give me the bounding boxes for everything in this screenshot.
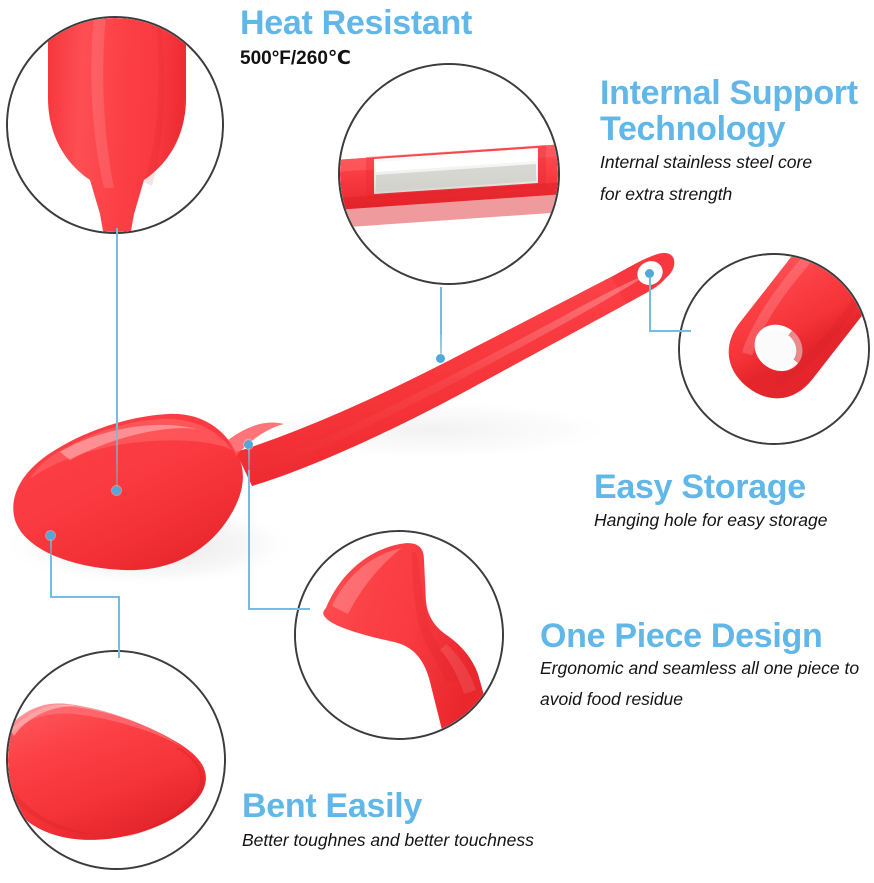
callout-heat-resistant-image <box>8 18 222 232</box>
feature-title-internal-support-line2: Technology <box>600 110 785 148</box>
leader-line-one-piece-horizontal <box>248 608 310 610</box>
leader-line-heat-resistant <box>116 228 118 428</box>
leader-line-one-piece-vertical <box>248 470 250 610</box>
feature-title-one-piece-design: One Piece Design <box>540 617 822 655</box>
leader-line-easy-storage-horizontal <box>649 330 691 332</box>
feature-subtitle-one-piece-design-line1: Ergonomic and seamless all one piece to <box>540 653 859 683</box>
callout-bent-easily <box>6 650 226 870</box>
handle-steel-core-closeup-icon <box>340 65 558 283</box>
leader-line-easy-storage-vertical <box>649 277 651 332</box>
feature-title-bent-easily: Bent Easily <box>242 787 422 825</box>
callout-heat-resistant <box>6 16 224 234</box>
hanging-hole-closeup-icon <box>680 255 868 443</box>
feature-title-internal-support-line1: Internal Support <box>600 74 858 112</box>
feature-subtitle-internal-support-line1: Internal stainless steel core <box>600 147 812 177</box>
callout-one-piece-design-image <box>296 532 502 738</box>
seamless-neck-closeup-icon <box>296 532 502 738</box>
leader-line-internal-support <box>440 287 442 335</box>
leader-line-bent-easily-vertical-1 <box>50 556 52 598</box>
product-infographic: Heat Resistant 500°F/260℃ Internal Suppo… <box>0 0 874 883</box>
leader-dot-heat-resistant <box>112 486 121 495</box>
feature-subtitle-internal-support-line2: for extra strength <box>600 179 732 209</box>
feature-title-heat-resistant: Heat Resistant <box>240 4 472 42</box>
callout-bent-easily-image <box>8 652 224 868</box>
callout-one-piece-design <box>294 530 504 740</box>
feature-title-easy-storage: Easy Storage <box>594 468 806 506</box>
leader-line-bent-easily-horizontal <box>50 596 120 598</box>
callout-easy-storage-image <box>680 255 868 443</box>
callout-easy-storage <box>678 253 870 445</box>
feature-subtitle-heat-resistant: 500°F/260℃ <box>240 44 351 74</box>
callout-internal-support-image <box>340 65 558 283</box>
leader-line-heat-resistant-fade <box>116 428 118 494</box>
callout-internal-support <box>338 63 560 285</box>
feature-subtitle-bent-easily: Better toughnes and better touchness <box>242 825 534 855</box>
leader-dot-internal-support <box>436 354 445 363</box>
leader-line-bent-easily-vertical-2 <box>118 596 120 658</box>
spatula-head-closeup-icon <box>8 18 222 232</box>
feature-subtitle-easy-storage: Hanging hole for easy storage <box>594 505 827 535</box>
bent-blade-closeup-icon <box>8 652 224 868</box>
feature-subtitle-one-piece-design-line2: avoid food residue <box>540 684 683 714</box>
